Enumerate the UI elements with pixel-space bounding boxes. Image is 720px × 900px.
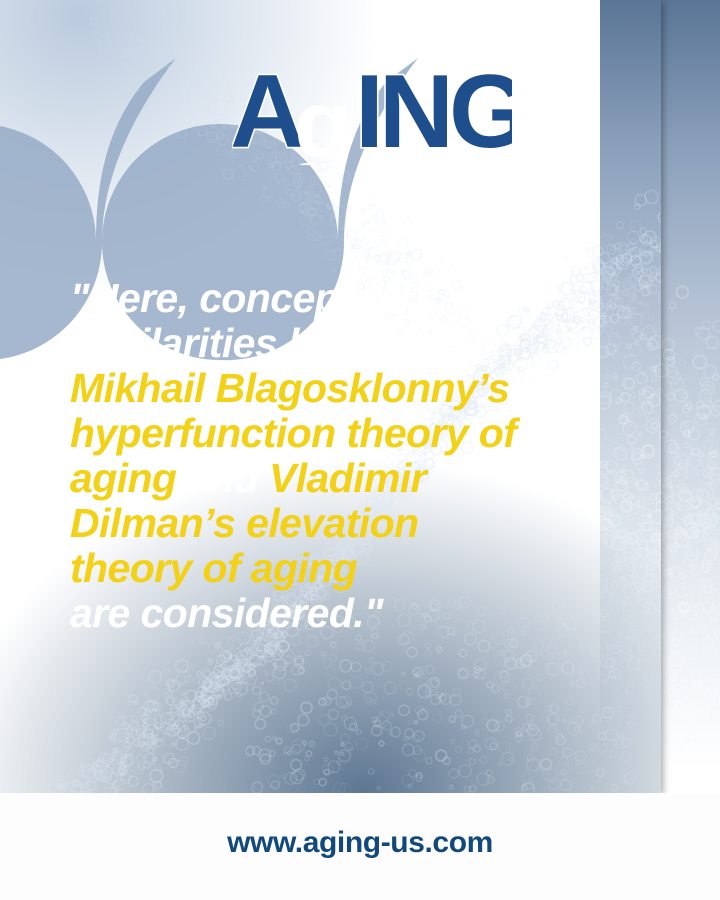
quote-line: similarities between <box>70 321 650 366</box>
quote-run: are considered." <box>70 590 383 636</box>
quote-line: aging and Vladimir <box>70 456 650 501</box>
logo-letters-ing: ING <box>355 55 512 165</box>
quote-run: Mikhail Blagosklonny’s <box>70 365 509 411</box>
quote-line: are considered." <box>70 591 650 636</box>
quote-run: similarities between <box>70 320 448 366</box>
quote-line: theory of aging <box>70 546 650 591</box>
quote-run: "Here, conceptual <box>70 275 410 321</box>
quote-run: aging <box>70 455 187 501</box>
quote-run: Vladimir <box>269 455 426 501</box>
logo-letter-a: A <box>232 55 303 165</box>
aging-logo: A g ING <box>232 55 512 165</box>
quote-run: hyperfunction theory of <box>70 410 516 456</box>
footer: www.aging-us.com <box>0 793 720 900</box>
quote-run: and <box>187 455 269 501</box>
quote-line: "Here, conceptual <box>70 276 650 321</box>
quote-line: hyperfunction theory of <box>70 411 650 456</box>
quote-run: Dilman’s elevation <box>70 500 418 546</box>
blue-panel: A g ING "Here, conceptualsimilarities be… <box>0 0 661 793</box>
logo-letter-g: g <box>294 71 348 165</box>
quote-line: Mikhail Blagosklonny’s <box>70 366 650 411</box>
quote-text-block: "Here, conceptualsimilarities betweenMik… <box>70 276 650 636</box>
quote-run: theory of aging <box>70 545 357 591</box>
quote-card: A g ING "Here, conceptualsimilarities be… <box>0 0 720 900</box>
quote-line: Dilman’s elevation <box>70 501 650 546</box>
footer-url[interactable]: www.aging-us.com <box>0 826 720 860</box>
